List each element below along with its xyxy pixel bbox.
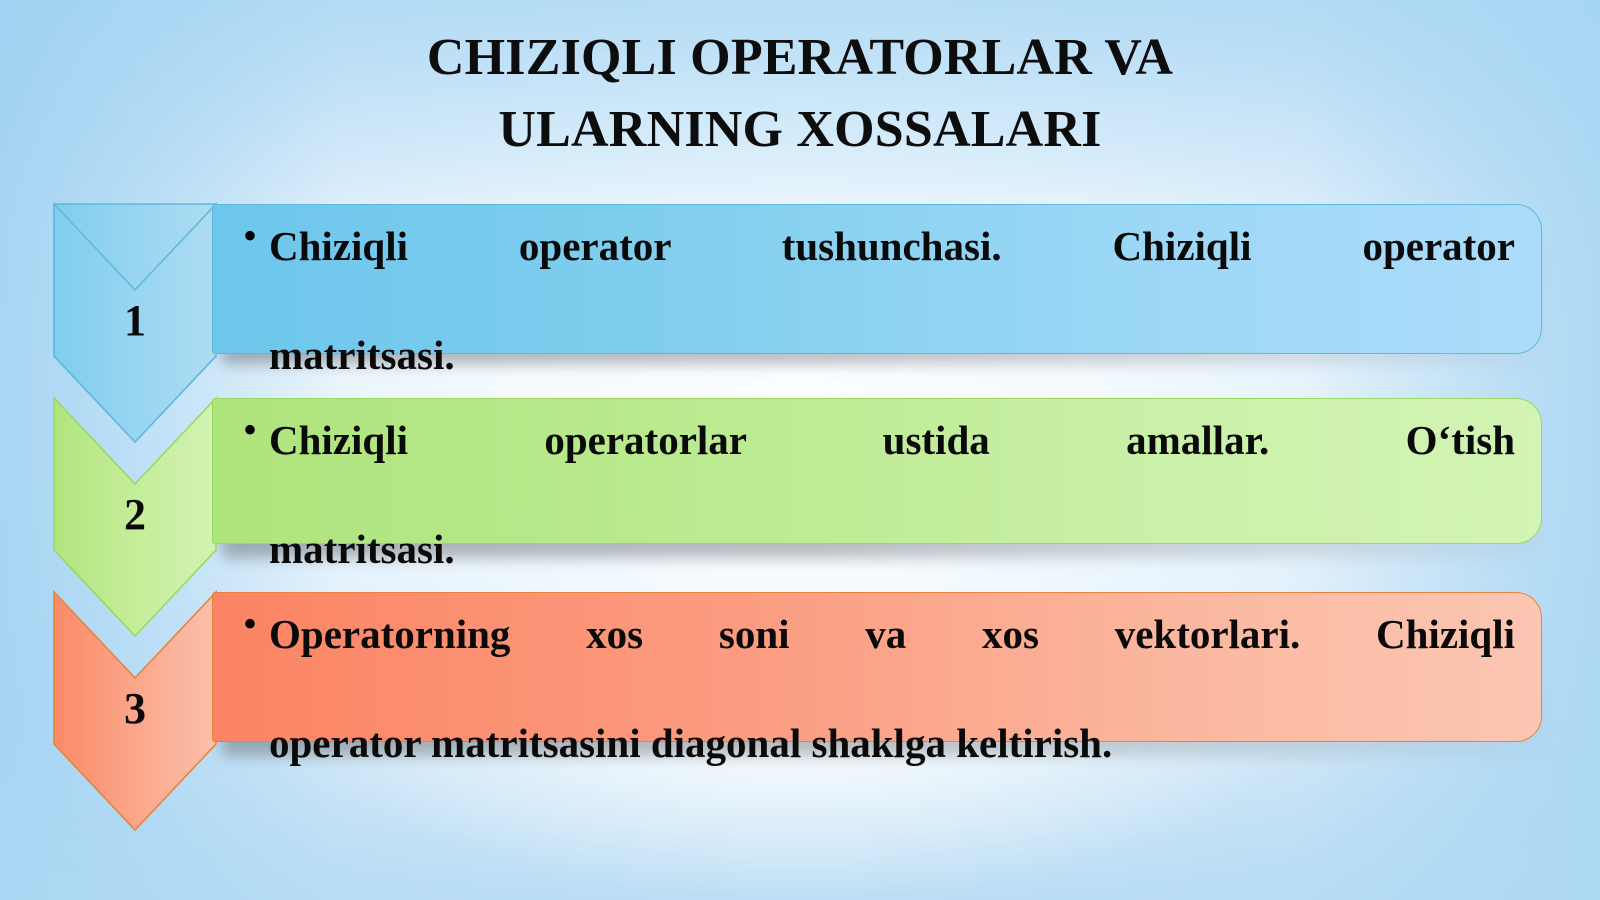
slide-title: CHIZIQLI OPERATORLAR VA ULARNING XOSSALA… — [250, 22, 1350, 166]
bullet-wrap-3: • Operatorning xos soni va xos vektorlar… — [213, 593, 1541, 781]
chevron-number-3: 3 — [54, 683, 216, 734]
slide-title-line-1: CHIZIQLI OPERATORLAR VA — [250, 22, 1350, 94]
bullet-wrap-1: • Chiziqli operator tushunchasi. Chiziql… — [213, 205, 1541, 393]
agenda-text-2-line-2: matritsasi. — [269, 522, 1515, 577]
agenda-text-3-line-2: operator matritsasini diagonal shaklga k… — [269, 716, 1515, 771]
agenda-text-1-line-1: Chiziqli operator tushunchasi. Chiziqli … — [269, 219, 1515, 328]
chevron-3 — [54, 592, 216, 900]
bullet-wrap-2: • Chiziqli operatorlar ustida amallar. O… — [213, 399, 1541, 587]
slide-title-line-2: ULARNING XOSSALARI — [250, 94, 1350, 166]
bullet-icon-1: • — [243, 219, 269, 253]
agenda-text-3: Operatorning xos soni va xos vektorlari.… — [269, 607, 1515, 771]
bullet-icon-3: • — [243, 607, 269, 641]
bullet-icon-2: • — [243, 413, 269, 447]
agenda-text-2: Chiziqli operatorlar ustida amallar. O‘t… — [269, 413, 1515, 577]
agenda-bar-1[interactable]: • Chiziqli operator tushunchasi. Chiziql… — [212, 204, 1542, 354]
agenda-text-3-line-1: Operatorning xos soni va xos vektorlari.… — [269, 607, 1515, 716]
chevron-number-2: 2 — [54, 489, 216, 540]
agenda-text-2-line-1: Chiziqli operatorlar ustida amallar. O‘t… — [269, 413, 1515, 522]
chevron-number-1: 1 — [54, 295, 216, 346]
agenda-text-1-line-2: matritsasi. — [269, 328, 1515, 383]
agenda-bar-2[interactable]: • Chiziqli operatorlar ustida amallar. O… — [212, 398, 1542, 544]
agenda-text-1: Chiziqli operator tushunchasi. Chiziqli … — [269, 219, 1515, 383]
slide-canvas: CHIZIQLI OPERATORLAR VA ULARNING XOSSALA… — [0, 0, 1600, 900]
agenda-bar-3[interactable]: • Operatorning xos soni va xos vektorlar… — [212, 592, 1542, 742]
